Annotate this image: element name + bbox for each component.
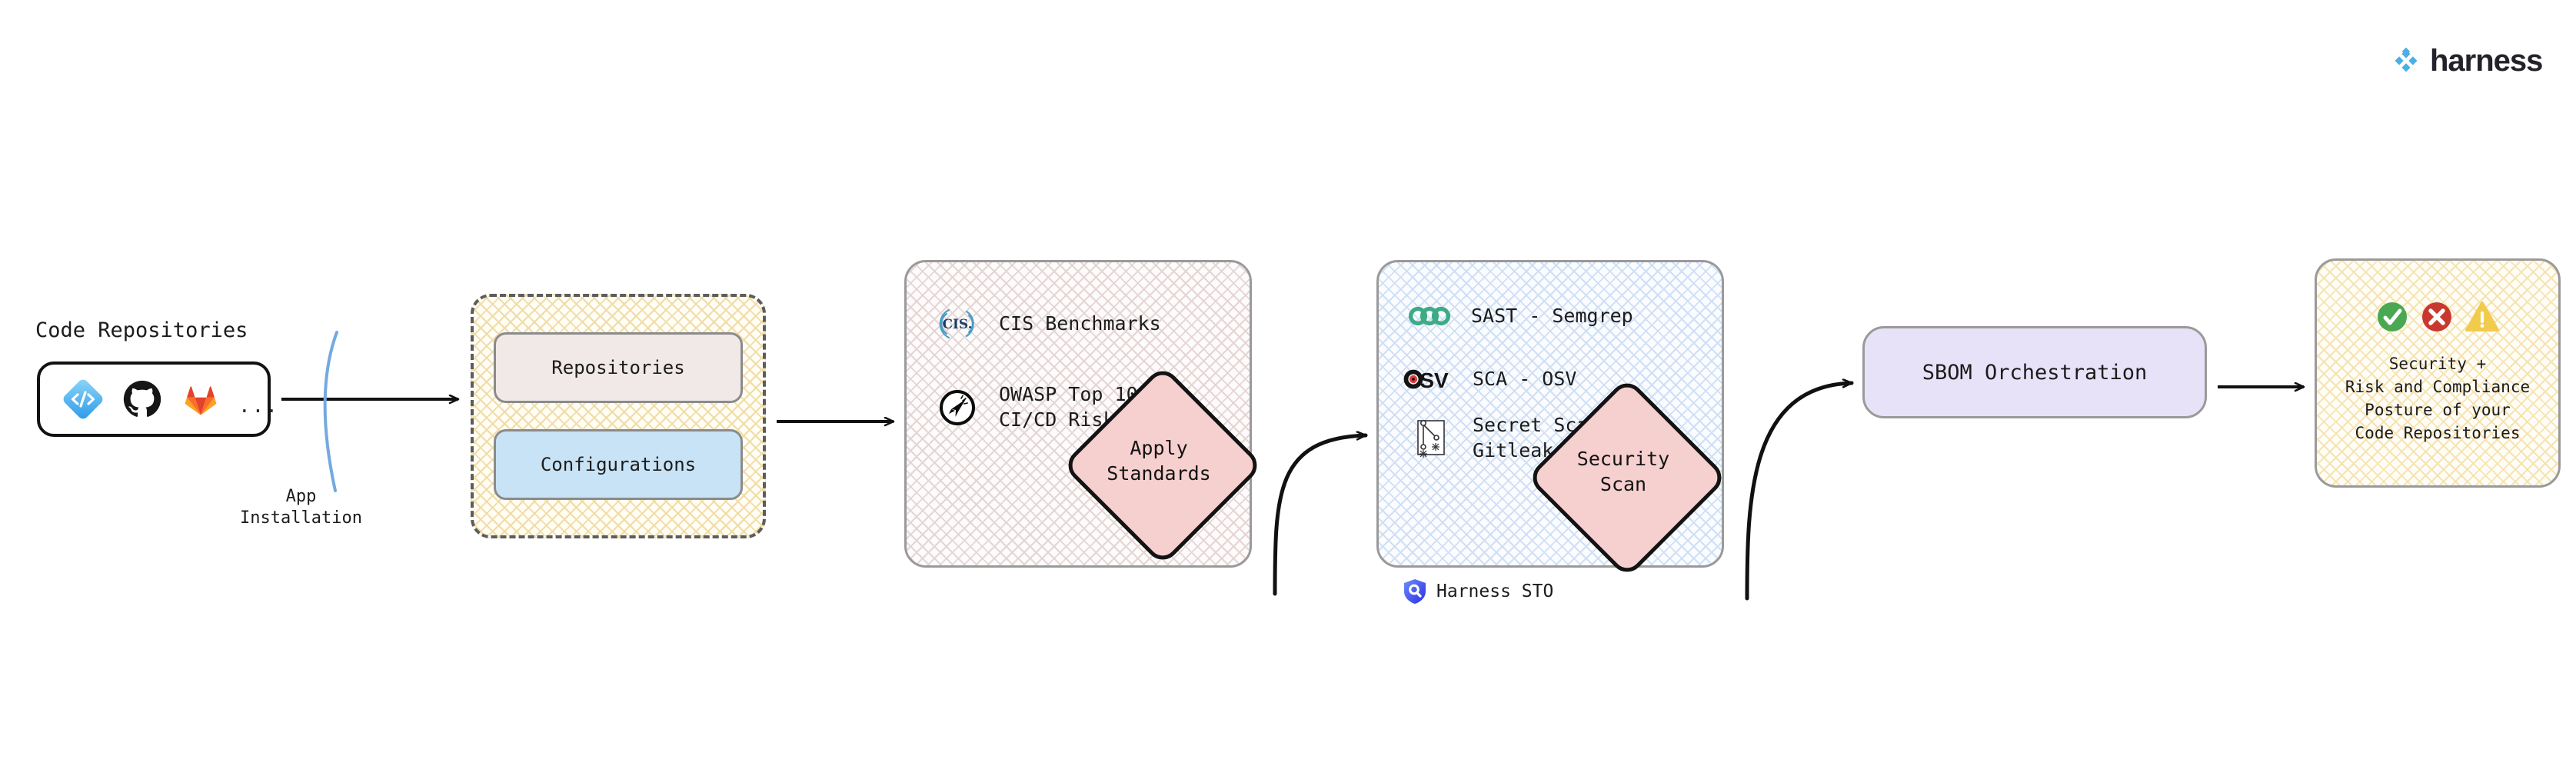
warning-triangle-icon xyxy=(2465,301,2499,333)
harness-wordmark: harness xyxy=(2430,45,2542,76)
cis-benchmarks-label: CIS Benchmarks xyxy=(999,312,1161,337)
error-circle-icon xyxy=(2421,301,2453,333)
app-installation-label: App Installation xyxy=(240,486,362,529)
configurations-pill[interactable]: Configurations xyxy=(494,429,743,500)
harness-sto-label: Harness STO xyxy=(1436,581,1553,601)
harness-mark-icon xyxy=(2390,45,2422,77)
connector-scan-to-sbom xyxy=(1747,383,1852,598)
status-icon-group xyxy=(2376,301,2499,333)
osv-icon: SV xyxy=(1403,358,1453,401)
azure-devops-icon xyxy=(62,378,105,421)
harness-sto-footer: Harness STO xyxy=(1403,578,1553,605)
security-posture-label: Security + Risk and Compliance Posture o… xyxy=(2345,353,2530,445)
svg-text:CIS.: CIS. xyxy=(942,317,972,332)
owasp-icon xyxy=(936,386,979,429)
harness-sto-shield-icon xyxy=(1403,578,1427,605)
app-installation-curve xyxy=(325,332,337,491)
sbom-label: SBOM Orchestration xyxy=(1865,328,2205,416)
security-scan-label: Security Scan xyxy=(1523,446,1723,497)
sast-row: SAST - Semgrep xyxy=(1408,295,1633,338)
semgrep-icon xyxy=(1408,295,1451,338)
cis-benchmarks-row: CIS. CIS Benchmarks xyxy=(936,302,1161,345)
diagram-canvas: harness Code Repositories xyxy=(0,0,2576,783)
svg-text:SV: SV xyxy=(1419,368,1449,392)
gitlab-icon xyxy=(180,378,221,420)
sbom-orchestration-card: SBOM Orchestration xyxy=(1862,326,2207,418)
repositories-pill[interactable]: Repositories xyxy=(494,332,743,403)
repositories-label: Repositories xyxy=(551,357,684,378)
harness-logo: harness xyxy=(2390,45,2542,77)
gitleaks-icon xyxy=(1409,417,1453,460)
github-icon xyxy=(121,378,163,420)
security-posture-card: Security + Risk and Compliance Posture o… xyxy=(2315,258,2561,488)
cis-logo-icon: CIS. xyxy=(936,302,979,345)
code-repositories-title: Code Repositories xyxy=(35,318,248,342)
sca-row: SV SCA - OSV xyxy=(1403,358,1576,401)
code-repositories-box: ... xyxy=(37,362,271,437)
sast-label: SAST - Semgrep xyxy=(1471,304,1633,329)
more-repos-ellipsis: ... xyxy=(238,395,279,418)
sca-label: SCA - OSV xyxy=(1473,367,1576,392)
check-circle-icon xyxy=(2376,301,2408,333)
app-config-group: Repositories Configurations xyxy=(471,294,766,538)
configurations-label: Configurations xyxy=(541,454,696,475)
apply-standards-label: Apply Standards xyxy=(1059,435,1259,486)
connector-standards-to-scan xyxy=(1275,435,1366,594)
